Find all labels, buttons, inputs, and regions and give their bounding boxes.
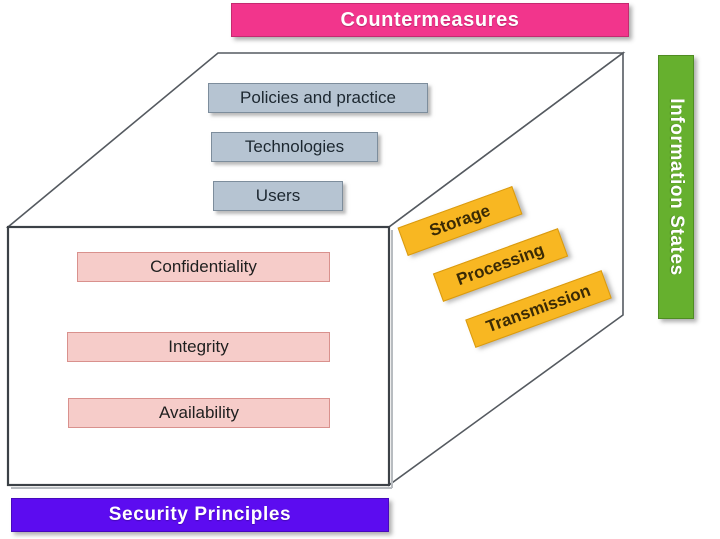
security-principles-axis-banner: Security Principles: [11, 498, 389, 532]
security-principles-banner-label: Security Principles: [109, 504, 291, 526]
information-states-banner-label: Information States: [665, 98, 687, 276]
countermeasures-banner-label: Countermeasures: [340, 9, 519, 32]
information-states-axis-banner: Information States: [658, 55, 694, 319]
countermeasure-box-policies-and-practice: Policies and practice: [208, 83, 428, 113]
security-principle-label-confidentiality: Confidentiality: [150, 257, 257, 277]
security-principle-label-integrity: Integrity: [168, 337, 228, 357]
countermeasure-box-technologies: Technologies: [211, 132, 378, 162]
security-principle-box-integrity: Integrity: [67, 332, 330, 362]
countermeasures-axis-banner: Countermeasures: [231, 3, 629, 37]
security-principle-box-availability: Availability: [68, 398, 330, 428]
countermeasure-label-users: Users: [256, 186, 300, 206]
countermeasure-box-users: Users: [213, 181, 343, 211]
security-principle-box-confidentiality: Confidentiality: [77, 252, 330, 282]
security-principle-label-availability: Availability: [159, 403, 239, 423]
countermeasure-label-technologies: Technologies: [245, 137, 344, 157]
diagram-canvas: Countermeasures Information States Secur…: [0, 0, 720, 539]
countermeasure-label-policies-and-practice: Policies and practice: [240, 88, 396, 108]
